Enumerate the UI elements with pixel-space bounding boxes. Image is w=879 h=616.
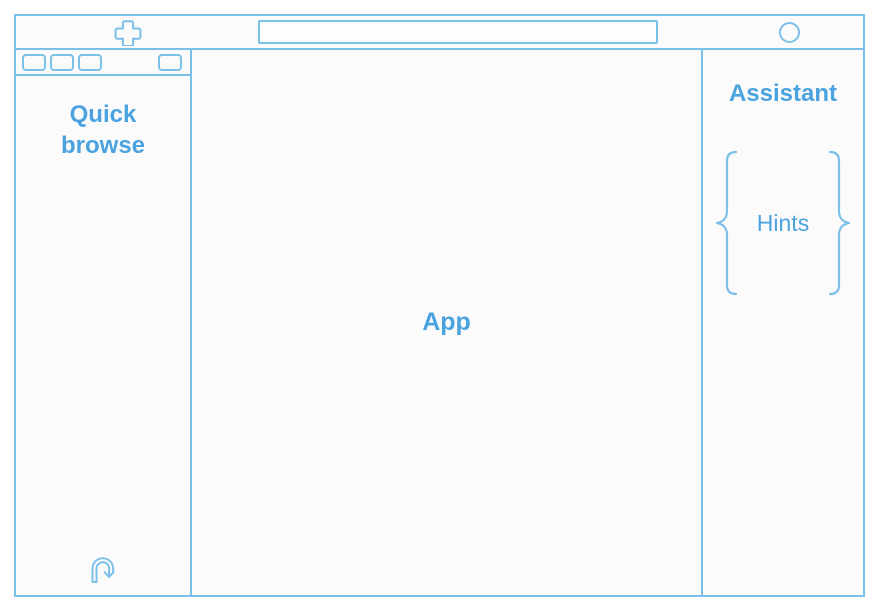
assistant-panel: Assistant Hints — [703, 50, 863, 595]
search-input[interactable] — [258, 20, 658, 44]
window-body: Quick browse App Assistant — [16, 50, 863, 595]
wireframe-window: Quick browse App Assistant — [14, 14, 865, 597]
sidebar-tab-action[interactable] — [158, 54, 182, 71]
hints-block: Hints — [715, 150, 851, 296]
circle-avatar-icon — [779, 22, 800, 43]
sidebar-tab-1[interactable] — [22, 54, 46, 71]
new-tab-button[interactable] — [16, 16, 240, 48]
close-brace-icon — [825, 150, 851, 296]
sidebar-panel: Quick browse — [16, 50, 192, 595]
sidebar-tab-2[interactable] — [50, 54, 74, 71]
app-title: App — [422, 308, 471, 337]
assistant-title: Assistant — [729, 80, 837, 108]
sidebar-content: Quick browse — [16, 76, 190, 595]
sidebar-footer[interactable] — [16, 555, 190, 587]
sidebar-tab-strip — [16, 50, 190, 76]
hints-label: Hints — [757, 210, 809, 237]
open-brace-icon — [715, 150, 741, 296]
plus-icon — [114, 18, 142, 46]
sidebar-tab-3[interactable] — [78, 54, 102, 71]
sidebar-title: Quick browse — [33, 100, 173, 161]
app-content-panel: App — [192, 50, 703, 595]
account-button[interactable] — [715, 16, 863, 48]
u-turn-arrow-icon — [87, 555, 119, 587]
top-bar — [16, 16, 863, 50]
search-bar — [258, 16, 718, 48]
